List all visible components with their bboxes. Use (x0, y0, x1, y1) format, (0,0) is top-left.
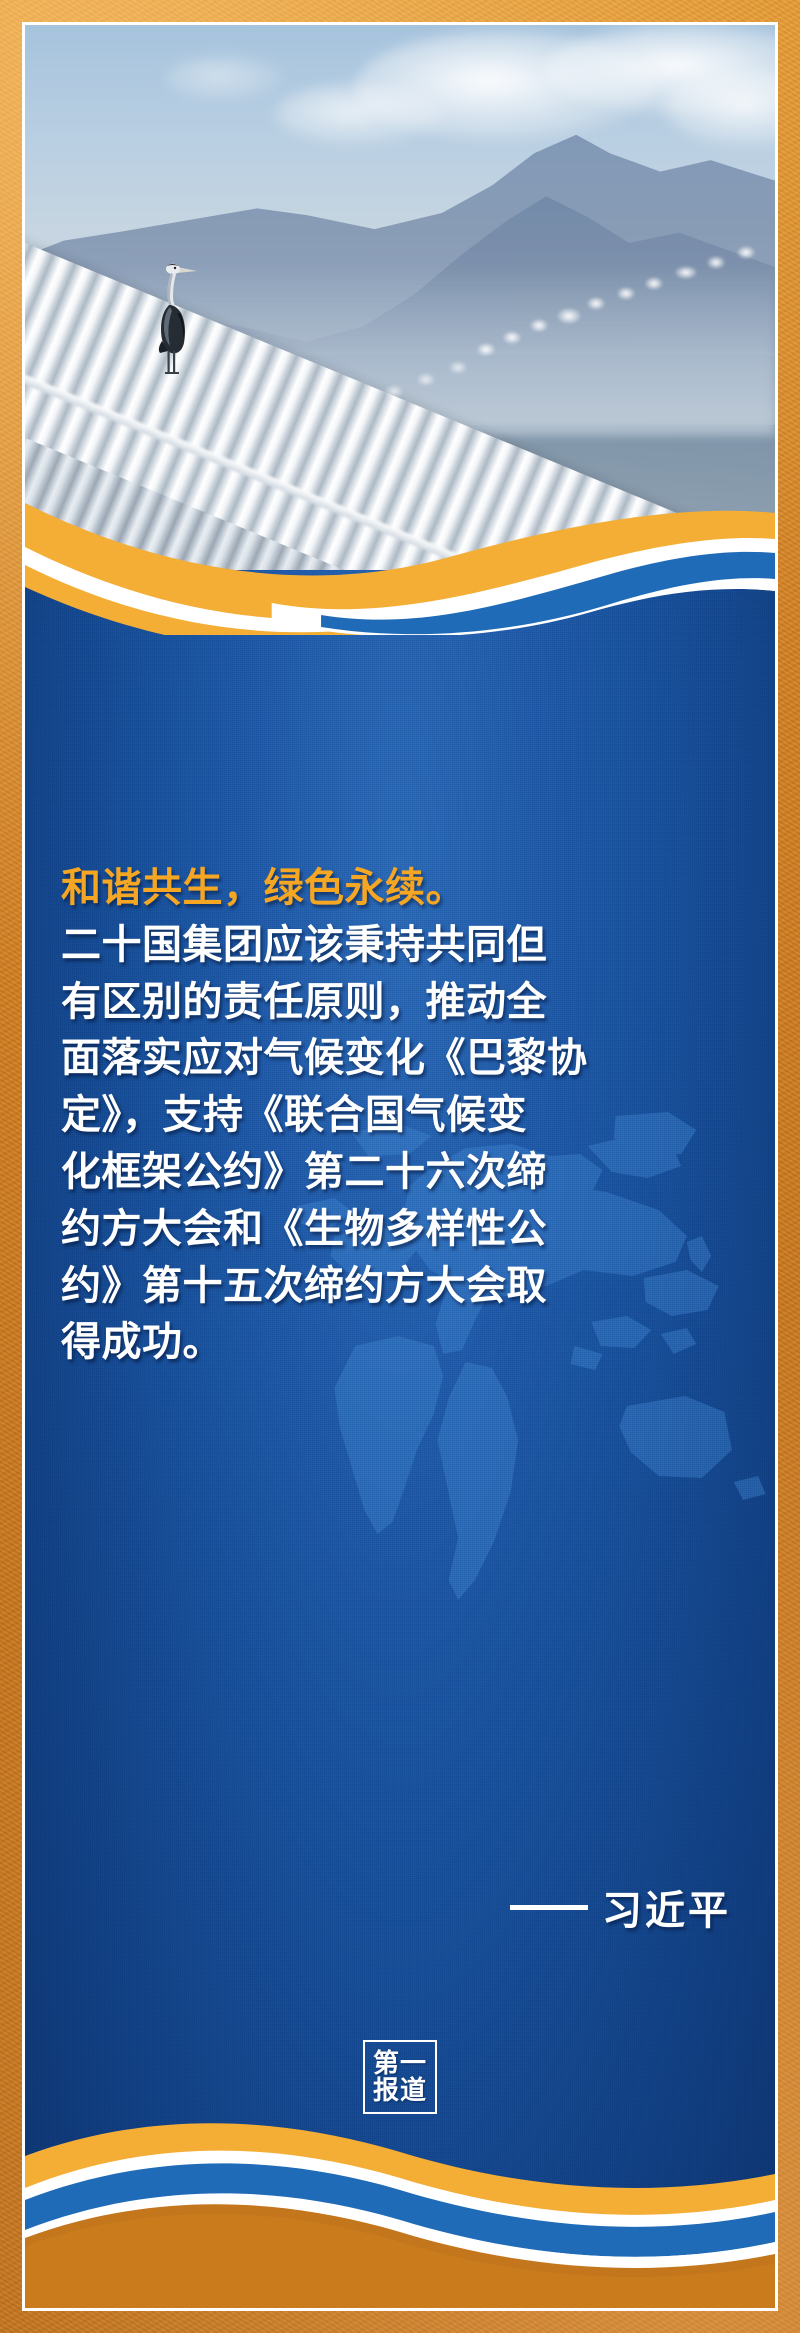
quote-line: 得成功。 (61, 1314, 541, 1371)
bottom-wave-divider (25, 2078, 775, 2308)
attribution-name: 习近平 (602, 1878, 731, 1936)
poster-background: 和谐共生，绿色永续。 二十国集团应该秉持共同但 有区别的责任原则，推动全 面落实… (0, 0, 800, 2333)
cloud (165, 55, 285, 101)
cloud (275, 83, 445, 145)
quote-line: 约》第十五次缔约方大会取 (61, 1258, 541, 1315)
poster-inner-frame: 和谐共生，绿色永续。 二十国集团应该秉持共同但 有区别的责任原则，推动全 面落实… (22, 22, 778, 2311)
heron-bird-icon (153, 253, 199, 375)
quote-line: 和谐共生，绿色永续。 (61, 860, 541, 917)
attribution-dash-icon (510, 1905, 588, 1910)
quote-line: 化框架公约》第二十六次缔 (61, 1144, 541, 1201)
quote-line: 有区别的责任原则，推动全 (61, 974, 541, 1031)
hero-photo (25, 25, 775, 570)
quote-block: 和谐共生，绿色永续。 二十国集团应该秉持共同但 有区别的责任原则，推动全 面落实… (61, 860, 541, 1371)
logo-line-1: 第一 (373, 2050, 427, 2077)
quote-attribution: 习近平 (510, 1878, 731, 1936)
quote-line: 定》，支持《联合国气候变 (61, 1087, 541, 1144)
top-wave-divider (25, 495, 775, 635)
quote-line: 约方大会和《生物多样性公 (61, 1201, 541, 1258)
poster-body: 和谐共生，绿色永续。 二十国集团应该秉持共同但 有区别的责任原则，推动全 面落实… (25, 570, 775, 2308)
quote-line: 面落实应对气候变化《巴黎协 (61, 1030, 541, 1087)
quote-line: 二十国集团应该秉持共同但 (61, 917, 541, 974)
